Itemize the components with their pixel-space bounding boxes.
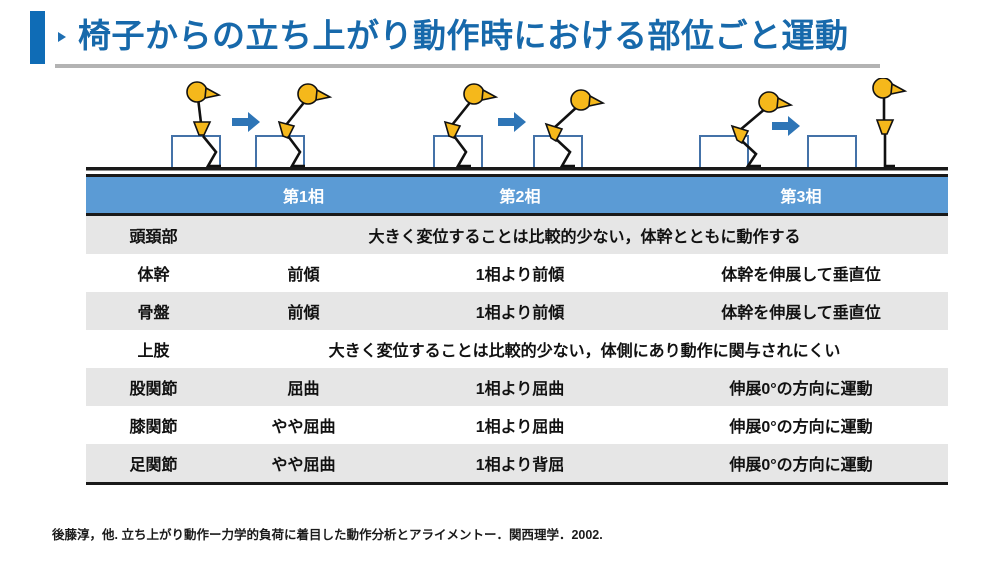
table-row: 頭頚部 大きく変位することは比較的少ない，体幹とともに動作する: [86, 215, 948, 255]
arrow-phase2-a: [498, 112, 526, 132]
triangle-bullet-icon: [58, 32, 66, 42]
row-span-text-upper-limb: 大きく変位することは比較的少ない，体側にあり動作に関与されにくい: [221, 330, 948, 368]
title-accent-bar: [30, 11, 45, 64]
title-underline-divider: [55, 64, 880, 68]
row-label-knee-joint: 膝関節: [86, 406, 221, 444]
table-header-row: 第1相 第2相 第3相: [86, 176, 948, 215]
cell-ankle-phase1: やや屈曲: [221, 444, 386, 484]
cell-pelvis-phase3: 体幹を伸展して垂直位: [654, 292, 948, 330]
row-label-hip-joint: 股関節: [86, 368, 221, 406]
figure-frame-2: [256, 84, 330, 168]
figure-frame-6: [808, 78, 905, 168]
cell-pelvis-phase1: 前傾: [221, 292, 386, 330]
row-label-ankle-joint: 足関節: [86, 444, 221, 484]
cell-ankle-phase3: 伸展0°の方向に運動: [654, 444, 948, 484]
table-row: 体幹 前傾 1相より前傾 体幹を伸展して垂直位: [86, 254, 948, 292]
cell-knee-phase1: やや屈曲: [221, 406, 386, 444]
table-row: 股関節 屈曲 1相より屈曲 伸展0°の方向に運動: [86, 368, 948, 406]
cell-ankle-phase2: 1相より背屈: [386, 444, 654, 484]
cell-knee-phase3: 伸展0°の方向に運動: [654, 406, 948, 444]
column-header-phase2: 第2相: [386, 176, 654, 215]
row-span-text-head-neck: 大きく変位することは比較的少ない，体幹とともに動作する: [221, 215, 948, 255]
cell-trunk-phase2: 1相より前傾: [386, 254, 654, 292]
arrow-phase1-a: [232, 112, 260, 132]
ground-line: [86, 167, 948, 171]
table-row: 足関節 やや屈曲 1相より背屈 伸展0°の方向に運動: [86, 444, 948, 484]
column-header-phase3: 第3相: [654, 176, 948, 215]
table-header: 第1相 第2相 第3相: [86, 176, 948, 215]
sit-to-stand-figure-strip: [0, 78, 1000, 174]
row-label-pelvis: 骨盤: [86, 292, 221, 330]
phase-comparison-table: 第1相 第2相 第3相 頭頚部 大きく変位することは比較的少ない，体幹とともに動…: [86, 174, 948, 485]
row-label-trunk: 体幹: [86, 254, 221, 292]
source-citation: 後藤淳，他. 立ち上がり動作ー力学的負荷に着目した動作分析とアライメントー．関西…: [52, 524, 603, 543]
row-label-upper-limb: 上肢: [86, 330, 221, 368]
page-title: 椅子からの立ち上がり動作時における部位ごと運動: [78, 11, 849, 61]
table-row: 膝関節 やや屈曲 1相より屈曲 伸展0°の方向に運動: [86, 406, 948, 444]
cell-knee-phase2: 1相より屈曲: [386, 406, 654, 444]
table-row: 上肢 大きく変位することは比較的少ない，体側にあり動作に関与されにくい: [86, 330, 948, 368]
sit-to-stand-sequence-illustration: [0, 78, 1000, 174]
cell-hip-phase3: 伸展0°の方向に運動: [654, 368, 948, 406]
cell-pelvis-phase2: 1相より前傾: [386, 292, 654, 330]
slide-title-block: 椅子からの立ち上がり動作時における部位ごと運動: [0, 0, 1000, 78]
column-header-phase1: 第1相: [221, 176, 386, 215]
figure-frame-4: [534, 90, 603, 168]
row-label-head-neck: 頭頚部: [86, 215, 221, 255]
table-row: 骨盤 前傾 1相より前傾 体幹を伸展して垂直位: [86, 292, 948, 330]
figure-frame-3: [434, 84, 496, 168]
column-header-part: [86, 176, 221, 215]
arrow-phase3-a: [772, 116, 800, 136]
cell-hip-phase2: 1相より屈曲: [386, 368, 654, 406]
table-body: 頭頚部 大きく変位することは比較的少ない，体幹とともに動作する 体幹 前傾 1相…: [86, 215, 948, 484]
figure-frame-1: [172, 82, 221, 168]
cell-trunk-phase3: 体幹を伸展して垂直位: [654, 254, 948, 292]
cell-hip-phase1: 屈曲: [221, 368, 386, 406]
cell-trunk-phase1: 前傾: [221, 254, 386, 292]
